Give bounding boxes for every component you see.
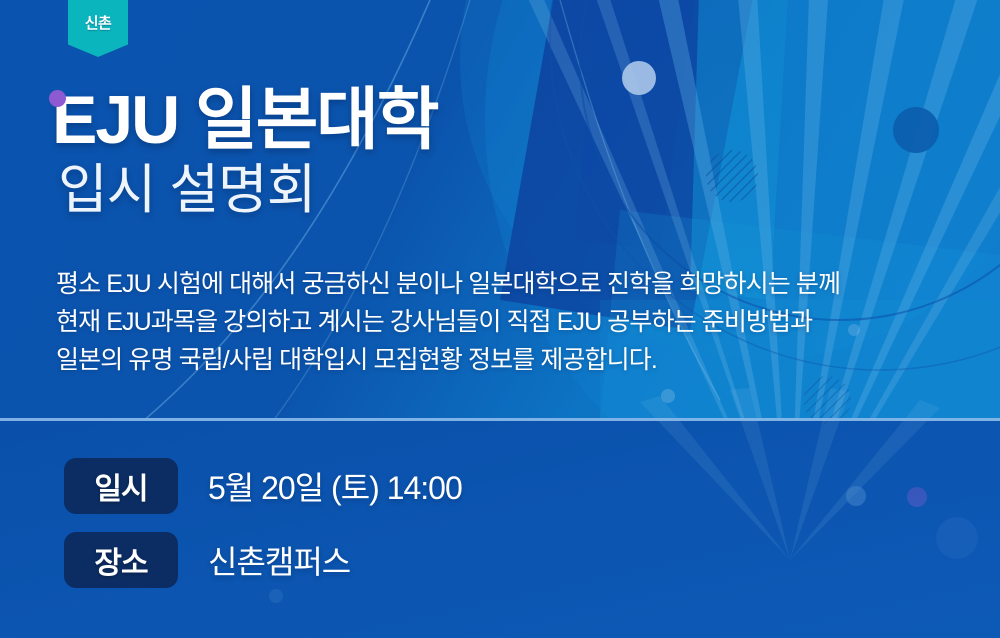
info-row-venue: 장소 신촌캠퍼스 [64, 532, 462, 588]
event-poster: 신촌 EJU 일본대학 입시 설명회 평소 EJU 시험에 대해서 궁금하신 분… [0, 0, 1000, 638]
campus-ribbon-label: 신촌 [85, 12, 112, 33]
poster-title-main: EJU 일본대학 [52, 86, 437, 155]
info-label-venue: 장소 [64, 532, 178, 588]
description-line-1: 평소 EJU 시험에 대해서 궁금하신 분이나 일본대학으로 진학을 희망하시는… [56, 268, 976, 300]
info-value-venue: 신촌캠퍼스 [208, 537, 350, 583]
info-value-datetime: 5월 20일 (토) 14:00 [208, 463, 462, 509]
poster-description: 평소 EJU 시험에 대해서 궁금하신 분이나 일본대학으로 진학을 희망하시는… [56, 268, 976, 382]
description-line-2: 현재 EJU과목을 강의하고 계시는 강사님들이 직접 EJU 공부하는 준비방… [56, 306, 976, 338]
info-row-datetime: 일시 5월 20일 (토) 14:00 [64, 458, 462, 514]
title-block: EJU 일본대학 입시 설명회 [52, 86, 437, 221]
poster-title-sub: 입시 설명회 [58, 161, 437, 220]
campus-ribbon-badge: 신촌 [68, 0, 128, 57]
description-line-3: 일본의 유명 국립/사립 대학입시 모집현황 정보를 제공합니다. [56, 344, 976, 376]
violet-accent-dot [49, 90, 66, 107]
event-info-list: 일시 5월 20일 (토) 14:00 장소 신촌캠퍼스 [64, 458, 462, 606]
info-label-datetime: 일시 [64, 458, 178, 514]
